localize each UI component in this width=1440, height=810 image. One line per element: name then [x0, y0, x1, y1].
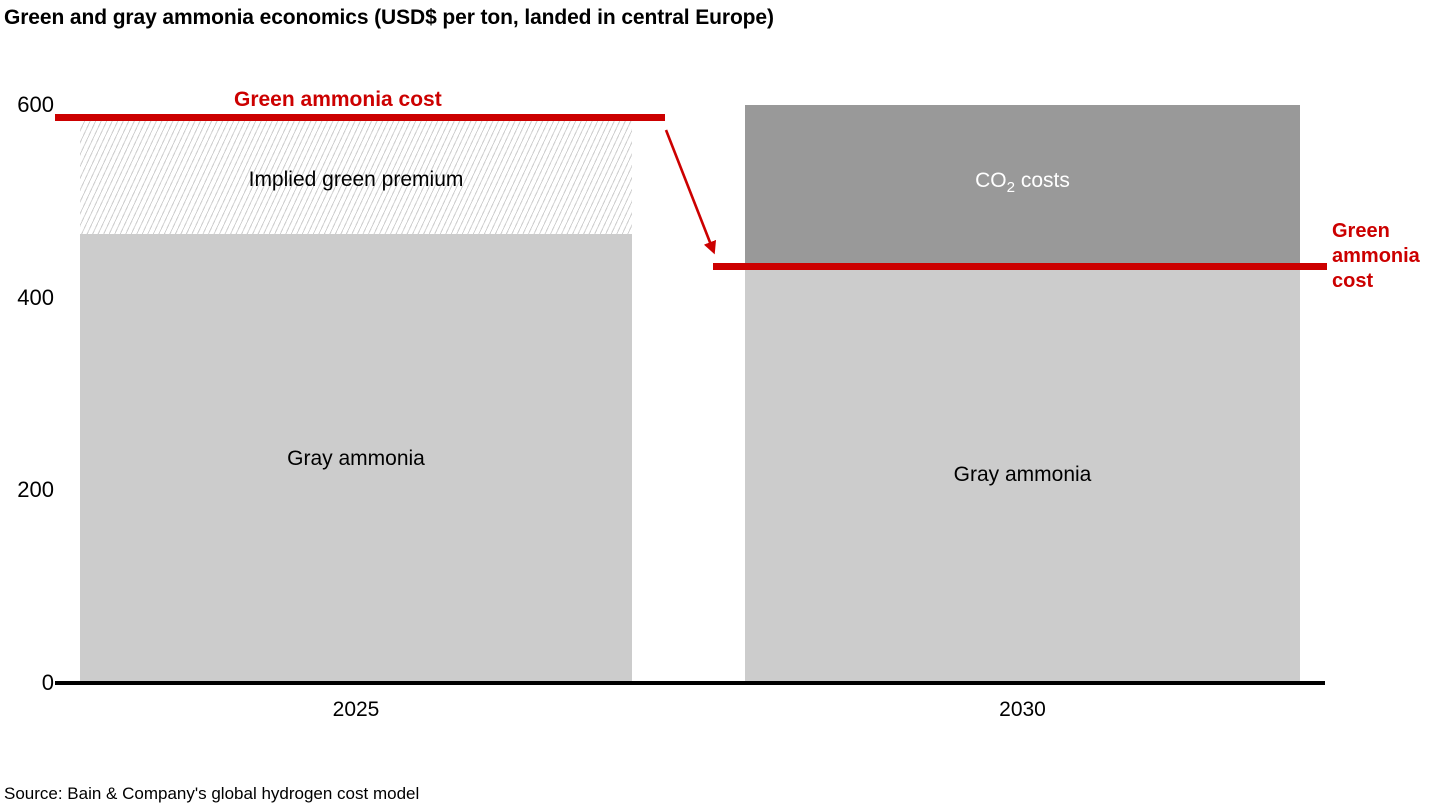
bar-label-gray-ammonia-2030: Gray ammonia	[745, 464, 1300, 485]
y-axis-tick-200: 200	[0, 479, 54, 501]
green-ammonia-cost-label-line-1: Green	[1332, 219, 1437, 244]
green-ammonia-cost-line-2030	[713, 263, 1327, 270]
green-ammonia-cost-line-2025	[55, 114, 665, 121]
green-ammonia-cost-label-line-2: ammonia	[1332, 244, 1437, 269]
source-note: Source: Bain & Company's global hydrogen…	[4, 784, 419, 803]
bar-label-gray-ammonia-2025: Gray ammonia	[80, 448, 632, 469]
bar-label-implied-green-premium: Implied green premium	[80, 169, 632, 190]
green-ammonia-cost-label-line-3: cost	[1332, 269, 1437, 294]
green-ammonia-cost-label-2025: Green ammonia cost	[234, 88, 442, 112]
bar-label-co2-costs: CO2 costs	[745, 170, 1300, 198]
y-axis-tick-0: 0	[0, 672, 54, 694]
x-axis-label-2025: 2025	[80, 699, 632, 720]
co2-label-suffix: costs	[1015, 169, 1070, 192]
co2-label-prefix: CO	[975, 169, 1007, 192]
y-axis-tick-600: 600	[0, 94, 54, 116]
green-ammonia-cost-label-2030: Green ammonia cost	[1332, 219, 1437, 294]
y-axis-tick-400: 400	[0, 287, 54, 309]
x-axis-line	[55, 681, 1325, 685]
chart-plot-area: 600 400 200 0 Implied green premium Gray…	[0, 0, 1440, 810]
co2-label-subscript: 2	[1007, 179, 1015, 196]
cost-decline-arrow-icon	[640, 110, 760, 275]
x-axis-label-2030: 2030	[745, 699, 1300, 720]
